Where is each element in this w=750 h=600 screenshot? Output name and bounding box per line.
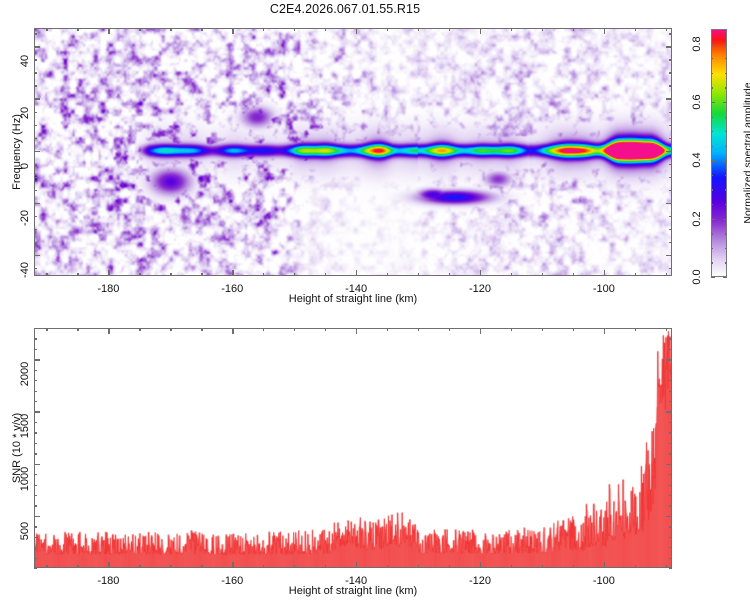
colorbar-minor-tick bbox=[725, 131, 727, 132]
axis-minor-tick bbox=[542, 28, 543, 31]
axis-minor-tick bbox=[263, 273, 264, 276]
axis-minor-tick bbox=[201, 565, 202, 568]
axis-major-tick bbox=[666, 359, 672, 360]
axis-minor-tick bbox=[34, 338, 37, 339]
axis-minor-tick bbox=[449, 565, 450, 568]
axis-minor-tick bbox=[34, 59, 37, 60]
axis-minor-tick bbox=[387, 328, 388, 331]
axis-minor-tick bbox=[669, 138, 672, 139]
snr-y-axis-label: SNR (10 * v/v) bbox=[11, 413, 23, 483]
axis-minor-tick bbox=[34, 190, 37, 191]
axis-major-tick bbox=[108, 562, 109, 568]
axis-major-tick bbox=[666, 411, 672, 412]
colorbar-minor-tick bbox=[725, 146, 727, 147]
axis-minor-tick bbox=[34, 138, 37, 139]
colorbar-minor-tick bbox=[711, 248, 713, 249]
colorbar-minor-tick bbox=[711, 117, 713, 118]
axis-minor-tick bbox=[263, 565, 264, 568]
axis-major-tick bbox=[34, 151, 40, 152]
axis-tick-label: -100 bbox=[593, 283, 615, 295]
colorbar-minor-tick bbox=[711, 262, 713, 263]
axis-minor-tick bbox=[46, 28, 47, 31]
axis-minor-tick bbox=[34, 443, 37, 444]
axis-minor-tick bbox=[34, 164, 37, 165]
axis-major-tick bbox=[232, 328, 233, 334]
colorbar-minor-tick bbox=[711, 87, 713, 88]
axis-major-tick bbox=[108, 328, 109, 334]
spectrogram-axes bbox=[34, 28, 672, 276]
axis-minor-tick bbox=[669, 568, 672, 569]
axis-minor-tick bbox=[77, 28, 78, 31]
axis-minor-tick bbox=[573, 28, 574, 31]
axis-major-tick bbox=[666, 151, 672, 152]
axis-tick-label: -40 bbox=[19, 255, 31, 285]
axis-minor-tick bbox=[669, 268, 672, 269]
axis-minor-tick bbox=[666, 273, 667, 276]
axis-tick-label: -120 bbox=[469, 575, 491, 587]
axis-minor-tick bbox=[77, 328, 78, 331]
axis-minor-tick bbox=[201, 28, 202, 31]
axis-minor-tick bbox=[34, 268, 37, 269]
figure-root: C2E4.2026.067.01.55.R15 -180-160-140-120… bbox=[0, 0, 750, 600]
colorbar-minor-tick bbox=[725, 58, 727, 59]
colorbar-minor-tick bbox=[711, 146, 713, 147]
colorbar-minor-tick bbox=[725, 73, 727, 74]
axis-minor-tick bbox=[669, 453, 672, 454]
figure-title: C2E4.2026.067.01.55.R15 bbox=[0, 2, 690, 16]
axis-tick-label: -20 bbox=[19, 203, 31, 233]
axis-minor-tick bbox=[669, 85, 672, 86]
axis-major-tick bbox=[604, 270, 605, 276]
axis-minor-tick bbox=[34, 547, 37, 548]
axis-minor-tick bbox=[666, 328, 667, 331]
axis-minor-tick bbox=[669, 164, 672, 165]
axis-minor-tick bbox=[34, 112, 37, 113]
axis-minor-tick bbox=[34, 370, 37, 371]
axis-minor-tick bbox=[34, 391, 37, 392]
colorbar-tick bbox=[723, 160, 727, 161]
axis-minor-tick bbox=[34, 495, 37, 496]
axis-tick-label: -180 bbox=[97, 575, 119, 587]
axis-minor-tick bbox=[418, 273, 419, 276]
colorbar-minor-tick bbox=[725, 117, 727, 118]
axis-minor-tick bbox=[139, 328, 140, 331]
axis-minor-tick bbox=[325, 273, 326, 276]
axis-minor-tick bbox=[325, 328, 326, 331]
colorbar-minor-tick bbox=[725, 175, 727, 176]
axis-minor-tick bbox=[669, 380, 672, 381]
axis-minor-tick bbox=[294, 328, 295, 331]
axis-major-tick bbox=[480, 28, 481, 34]
colorbar-minor-tick bbox=[711, 204, 713, 205]
axis-minor-tick bbox=[635, 28, 636, 31]
axis-minor-tick bbox=[449, 28, 450, 31]
colorbar-tick-label: 0.2 bbox=[691, 207, 703, 231]
colorbar bbox=[711, 29, 727, 277]
axis-major-tick bbox=[666, 464, 672, 465]
axis-minor-tick bbox=[669, 537, 672, 538]
axis-minor-tick bbox=[34, 242, 37, 243]
axis-minor-tick bbox=[34, 558, 37, 559]
axis-major-tick bbox=[604, 328, 605, 334]
colorbar-minor-tick bbox=[725, 248, 727, 249]
axis-minor-tick bbox=[449, 273, 450, 276]
axis-minor-tick bbox=[669, 495, 672, 496]
axis-minor-tick bbox=[511, 565, 512, 568]
axis-minor-tick bbox=[669, 125, 672, 126]
axis-minor-tick bbox=[263, 328, 264, 331]
colorbar-label: Normalized spectral amplitude bbox=[742, 82, 750, 223]
colorbar-minor-tick bbox=[725, 87, 727, 88]
axis-minor-tick bbox=[573, 273, 574, 276]
axis-minor-tick bbox=[34, 474, 37, 475]
axis-minor-tick bbox=[669, 242, 672, 243]
axis-minor-tick bbox=[542, 328, 543, 331]
snr-x-axis-label: Height of straight line (km) bbox=[289, 585, 417, 597]
axis-minor-tick bbox=[294, 28, 295, 31]
axis-minor-tick bbox=[418, 328, 419, 331]
axis-minor-tick bbox=[34, 401, 37, 402]
axis-tick-label: 40 bbox=[19, 46, 31, 76]
axis-minor-tick bbox=[669, 72, 672, 73]
axis-minor-tick bbox=[669, 59, 672, 60]
axis-tick-label: -180 bbox=[97, 283, 119, 295]
colorbar-tick bbox=[711, 277, 715, 278]
snr-trace bbox=[35, 329, 671, 567]
colorbar-minor-tick bbox=[711, 58, 713, 59]
axis-minor-tick bbox=[669, 443, 672, 444]
axis-minor-tick bbox=[77, 565, 78, 568]
axis-tick-label: 500 bbox=[19, 516, 31, 546]
axis-minor-tick bbox=[46, 273, 47, 276]
axis-minor-tick bbox=[669, 474, 672, 475]
axis-major-tick bbox=[480, 270, 481, 276]
colorbar-minor-tick bbox=[711, 131, 713, 132]
axis-minor-tick bbox=[669, 547, 672, 548]
colorbar-gradient bbox=[712, 30, 726, 276]
axis-major-tick bbox=[666, 203, 672, 204]
axis-tick-label: -160 bbox=[221, 283, 243, 295]
axis-minor-tick bbox=[573, 565, 574, 568]
axis-minor-tick bbox=[669, 33, 672, 34]
axis-major-tick bbox=[34, 411, 40, 412]
axis-minor-tick bbox=[325, 565, 326, 568]
colorbar-tick bbox=[711, 102, 715, 103]
axis-minor-tick bbox=[669, 391, 672, 392]
axis-minor-tick bbox=[635, 565, 636, 568]
axis-minor-tick bbox=[635, 273, 636, 276]
axis-minor-tick bbox=[666, 28, 667, 31]
axis-minor-tick bbox=[669, 526, 672, 527]
axis-major-tick bbox=[356, 28, 357, 34]
axis-major-tick bbox=[666, 46, 672, 47]
colorbar-tick bbox=[723, 219, 727, 220]
axis-minor-tick bbox=[418, 565, 419, 568]
axis-minor-tick bbox=[418, 28, 419, 31]
axis-minor-tick bbox=[34, 229, 37, 230]
colorbar-minor-tick bbox=[711, 189, 713, 190]
axis-minor-tick bbox=[201, 328, 202, 331]
axis-tick-label: -120 bbox=[469, 283, 491, 295]
colorbar-tick bbox=[723, 277, 727, 278]
axis-minor-tick bbox=[449, 328, 450, 331]
axis-major-tick bbox=[604, 28, 605, 34]
axis-minor-tick bbox=[34, 453, 37, 454]
axis-minor-tick bbox=[669, 338, 672, 339]
axis-major-tick bbox=[480, 328, 481, 334]
axis-minor-tick bbox=[669, 328, 672, 329]
axis-minor-tick bbox=[669, 485, 672, 486]
colorbar-tick bbox=[723, 44, 727, 45]
colorbar-minor-tick bbox=[711, 233, 713, 234]
axis-minor-tick bbox=[34, 125, 37, 126]
axis-minor-tick bbox=[34, 72, 37, 73]
axis-minor-tick bbox=[170, 565, 171, 568]
axis-minor-tick bbox=[669, 216, 672, 217]
axis-minor-tick bbox=[511, 328, 512, 331]
colorbar-tick-label: 0.4 bbox=[691, 148, 703, 172]
axis-minor-tick bbox=[294, 273, 295, 276]
axis-tick-label: -160 bbox=[221, 575, 243, 587]
colorbar-tick bbox=[723, 102, 727, 103]
axis-minor-tick bbox=[542, 273, 543, 276]
spectrogram-image bbox=[35, 29, 671, 275]
axis-minor-tick bbox=[139, 273, 140, 276]
axis-major-tick bbox=[666, 98, 672, 99]
axis-minor-tick bbox=[573, 328, 574, 331]
axis-major-tick bbox=[108, 28, 109, 34]
axis-major-tick bbox=[34, 203, 40, 204]
axis-minor-tick bbox=[263, 28, 264, 31]
axis-minor-tick bbox=[669, 401, 672, 402]
colorbar-tick bbox=[711, 219, 715, 220]
axis-major-tick bbox=[356, 562, 357, 568]
axis-minor-tick bbox=[34, 537, 37, 538]
axis-major-tick bbox=[666, 255, 672, 256]
axis-minor-tick bbox=[669, 177, 672, 178]
axis-minor-tick bbox=[669, 190, 672, 191]
axis-minor-tick bbox=[34, 177, 37, 178]
axis-minor-tick bbox=[46, 565, 47, 568]
colorbar-tick-label: 0.6 bbox=[691, 90, 703, 114]
axis-minor-tick bbox=[669, 349, 672, 350]
axis-minor-tick bbox=[170, 328, 171, 331]
colorbar-tick bbox=[711, 44, 715, 45]
axis-minor-tick bbox=[387, 565, 388, 568]
axis-minor-tick bbox=[201, 273, 202, 276]
axis-minor-tick bbox=[669, 558, 672, 559]
colorbar-minor-tick bbox=[725, 189, 727, 190]
axis-minor-tick bbox=[511, 273, 512, 276]
axis-tick-label: 2000 bbox=[19, 359, 31, 389]
axis-major-tick bbox=[604, 562, 605, 568]
snr-axes bbox=[34, 328, 672, 568]
axis-minor-tick bbox=[669, 370, 672, 371]
spectrogram-y-axis-label: Frequency (Hz) bbox=[11, 114, 23, 190]
axis-minor-tick bbox=[34, 568, 37, 569]
axis-minor-tick bbox=[139, 28, 140, 31]
colorbar-tick bbox=[711, 160, 715, 161]
axis-major-tick bbox=[232, 270, 233, 276]
colorbar-tick-label: 0.0 bbox=[691, 265, 703, 289]
colorbar-minor-tick bbox=[711, 73, 713, 74]
axis-major-tick bbox=[34, 98, 40, 99]
axis-minor-tick bbox=[34, 432, 37, 433]
axis-major-tick bbox=[34, 464, 40, 465]
axis-major-tick bbox=[480, 562, 481, 568]
axis-minor-tick bbox=[34, 33, 37, 34]
axis-minor-tick bbox=[34, 328, 37, 329]
axis-major-tick bbox=[34, 516, 40, 517]
axis-minor-tick bbox=[294, 565, 295, 568]
axis-minor-tick bbox=[139, 565, 140, 568]
axis-minor-tick bbox=[669, 229, 672, 230]
axis-minor-tick bbox=[170, 273, 171, 276]
axis-minor-tick bbox=[34, 380, 37, 381]
axis-major-tick bbox=[108, 270, 109, 276]
axis-minor-tick bbox=[666, 565, 667, 568]
axis-major-tick bbox=[34, 359, 40, 360]
axis-minor-tick bbox=[34, 216, 37, 217]
axis-minor-tick bbox=[387, 273, 388, 276]
axis-minor-tick bbox=[34, 526, 37, 527]
axis-minor-tick bbox=[669, 112, 672, 113]
axis-minor-tick bbox=[669, 422, 672, 423]
axis-minor-tick bbox=[34, 485, 37, 486]
axis-major-tick bbox=[232, 562, 233, 568]
axis-minor-tick bbox=[635, 328, 636, 331]
axis-major-tick bbox=[356, 270, 357, 276]
axis-minor-tick bbox=[34, 505, 37, 506]
colorbar-minor-tick bbox=[725, 233, 727, 234]
axis-minor-tick bbox=[669, 432, 672, 433]
axis-major-tick bbox=[34, 46, 40, 47]
axis-major-tick bbox=[232, 28, 233, 34]
axis-minor-tick bbox=[669, 505, 672, 506]
axis-major-tick bbox=[34, 255, 40, 256]
axis-major-tick bbox=[666, 516, 672, 517]
colorbar-tick-label: 0.8 bbox=[691, 32, 703, 56]
axis-minor-tick bbox=[34, 422, 37, 423]
axis-minor-tick bbox=[325, 28, 326, 31]
axis-minor-tick bbox=[511, 28, 512, 31]
axis-minor-tick bbox=[34, 349, 37, 350]
axis-tick-label: -100 bbox=[593, 575, 615, 587]
axis-minor-tick bbox=[387, 28, 388, 31]
axis-minor-tick bbox=[46, 328, 47, 331]
axis-minor-tick bbox=[34, 85, 37, 86]
colorbar-minor-tick bbox=[711, 175, 713, 176]
axis-minor-tick bbox=[77, 273, 78, 276]
spectrogram-x-axis-label: Height of straight line (km) bbox=[289, 293, 417, 305]
colorbar-minor-tick bbox=[725, 262, 727, 263]
axis-minor-tick bbox=[542, 565, 543, 568]
axis-major-tick bbox=[356, 328, 357, 334]
axis-minor-tick bbox=[170, 28, 171, 31]
colorbar-minor-tick bbox=[725, 204, 727, 205]
